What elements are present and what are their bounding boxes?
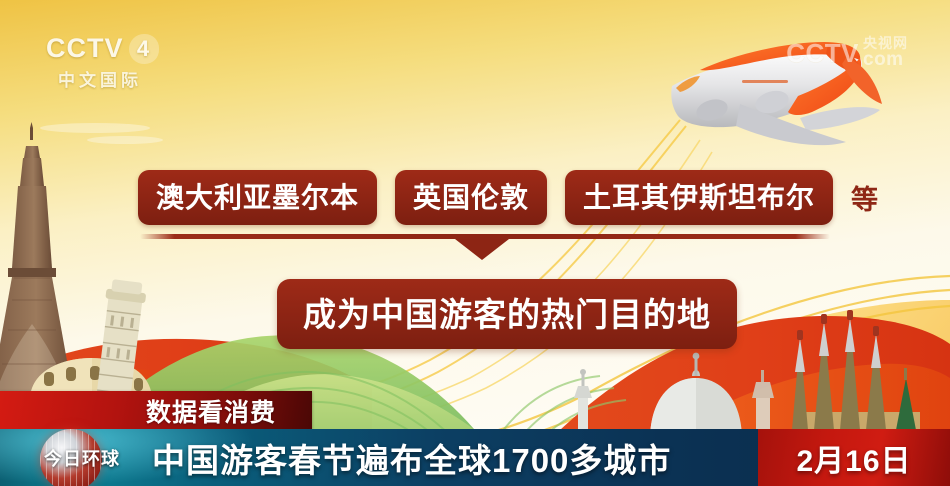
cctv-dot-com-watermark: CCTV 央视网 com	[786, 36, 908, 69]
cctv4-logo-row: CCTV 4	[46, 33, 196, 64]
topic-banner: 数据看消费	[0, 391, 312, 430]
channel-number-badge: 4	[129, 34, 159, 64]
destination-chip-melbourne: 澳大利亚墨尔本	[138, 170, 377, 225]
topic-banner-label: 数据看消费	[146, 393, 276, 429]
cctv4-logo-subtitle: 中文国际	[58, 66, 196, 91]
chevron-down-icon	[455, 239, 509, 260]
program-logo-label: 今日环球	[44, 445, 120, 471]
cctv-wordmark: CCTV	[46, 33, 124, 64]
cctv4-channel-logo: CCTV 4 中文国际	[46, 33, 196, 91]
destination-tag-row: 澳大利亚墨尔本 英国伦敦 土耳其伊斯坦布尔 等	[138, 170, 878, 225]
date-label: 2月16日	[796, 436, 911, 480]
watermark-chinese-text: 央视网	[863, 36, 908, 50]
date-block: 2月16日	[758, 429, 950, 486]
destination-chip-london: 英国伦敦	[395, 170, 547, 225]
program-logo: 今日环球	[18, 433, 146, 483]
destination-etc-suffix: 等	[851, 178, 878, 217]
broadcast-screen: CCTV 4 中文国际 CCTV 央视网 com 澳大利亚墨尔本 英国伦敦 土耳…	[0, 0, 950, 486]
conclusion-banner: 成为中国游客的热门目的地	[277, 279, 737, 349]
watermark-right-group: 央视网 com	[863, 36, 908, 69]
watermark-com-text: com	[863, 50, 908, 69]
destination-chip-istanbul: 土耳其伊斯坦布尔	[565, 170, 833, 225]
watermark-cctv-text: CCTV	[786, 38, 859, 69]
news-headline: 中国游客春节遍布全球1700多城市	[152, 429, 671, 486]
